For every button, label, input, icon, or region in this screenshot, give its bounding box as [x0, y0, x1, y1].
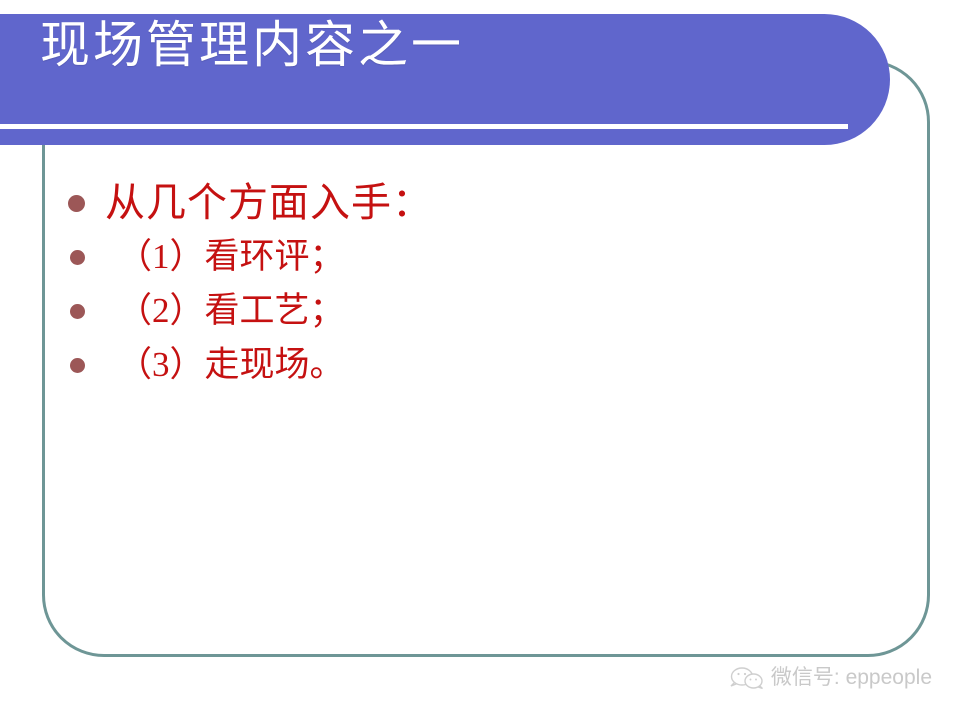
watermark: 微信号: eppeople — [730, 666, 932, 690]
bullet-dot-icon — [70, 358, 85, 373]
bullet-dot-icon — [68, 195, 85, 212]
slide-canvas: 现场管理内容之一 从几个方面入手： （1）看环评； （2）看工艺； （3）走现场… — [0, 0, 960, 720]
bullet-list: 从几个方面入手： （1）看环评； （2）看工艺； （3）走现场。 — [68, 176, 868, 392]
list-item: （3）走现场。 — [68, 338, 868, 392]
watermark-label: 微信号: eppeople — [771, 666, 932, 690]
bullet-dot-icon — [70, 304, 85, 319]
list-item-label: （1）看环评； — [117, 236, 345, 278]
list-item-label: 从几个方面入手： — [105, 180, 433, 226]
wechat-icon — [730, 666, 764, 690]
list-item-label: （2）看工艺； — [117, 290, 345, 332]
list-item: （2）看工艺； — [68, 284, 868, 338]
list-item-label: （3）走现场。 — [117, 344, 345, 386]
list-item: 从几个方面入手： — [68, 176, 868, 230]
title-divider-rule — [0, 124, 848, 129]
page-title: 现场管理内容之一 — [40, 16, 464, 74]
bullet-dot-icon — [70, 250, 85, 265]
list-item: （1）看环评； — [68, 230, 868, 284]
